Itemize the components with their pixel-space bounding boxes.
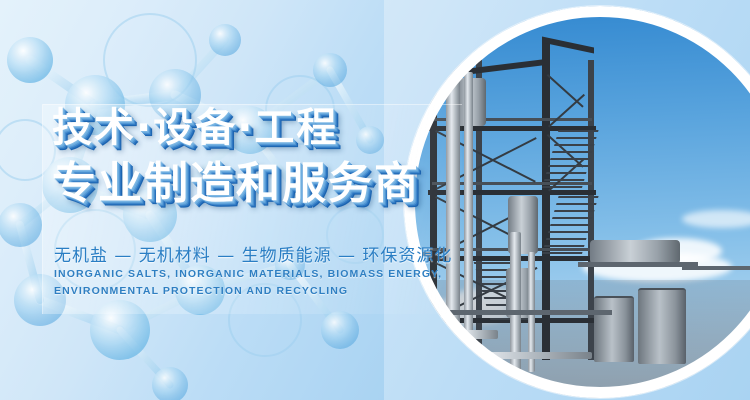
headline-line-2: 专业制造和服务商 (52, 162, 522, 206)
company-hero-banner: 技术·设备·工程 专业制造和服务商 无机盐 — 无机材料 — 生物质能源 — 环… (0, 0, 750, 400)
storage-tank (638, 288, 686, 364)
storage-tank (594, 296, 634, 362)
headline-line-1: 技术·设备·工程 (52, 108, 522, 148)
process-pipe (510, 232, 521, 372)
heat-exchanger (590, 240, 680, 264)
subtitle-english: INORGANIC SALTS, INORGANIC MATERIALS, BI… (54, 266, 454, 300)
subtitle-chinese: 无机盐 — 无机材料 — 生物质能源 — 环保资源化 (54, 241, 452, 266)
headline-block: 技术·设备·工程 专业制造和服务商 (52, 108, 522, 206)
